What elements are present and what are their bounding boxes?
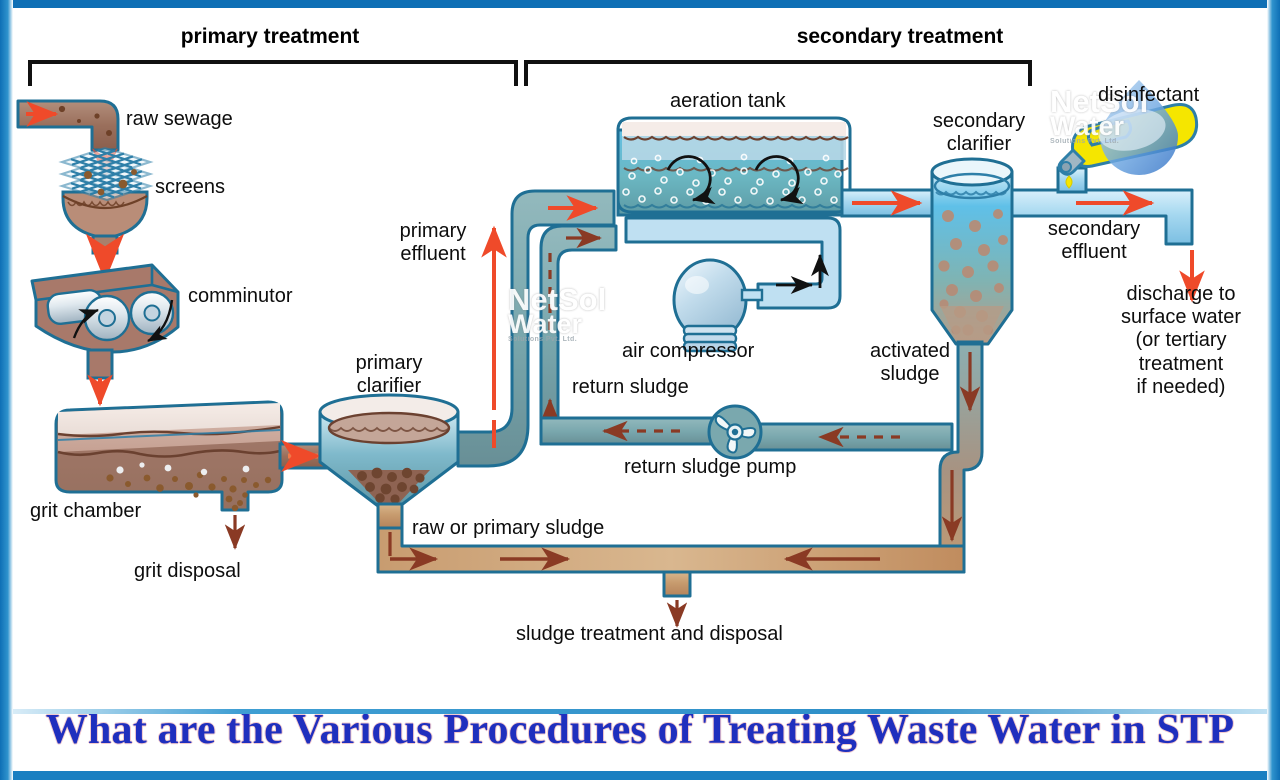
bracket-end-left [524,60,528,86]
label-grit-disposal: grit disposal [134,560,241,583]
section-title-secondary: secondary treatment [520,25,1280,49]
air-compressor [626,218,840,351]
bracket-bar [524,60,1032,64]
label-comminutor: comminutor [188,285,292,308]
bracket-bar [28,60,518,64]
label-return-sludge: return sludge [572,376,689,399]
bracket-end-right [514,60,518,86]
label-primary-effluent: primary effluent [372,220,494,266]
aeration-tank [618,118,850,215]
label-raw-sewage: raw sewage [126,108,233,131]
label-aeration-tank: aeration tank [670,90,786,113]
label-screens: screens [155,176,225,199]
diagram-canvas: NetSol Water Solutions Pvt. Ltd. NetSol … [0,0,1280,780]
frame-bottom [0,771,1280,780]
label-primary-clarifier: primary clarifier [318,352,460,398]
section-title-primary: primary treatment [0,25,540,49]
screens-unit [62,148,150,278]
label-return-sludge-pump: return sludge pump [624,456,796,479]
frame-right [1267,0,1280,780]
return-sludge-pipe [541,226,616,444]
label-secondary-clarifier: secondary clarifier [906,110,1052,156]
aeration-to-clarifier-pipe [842,190,938,216]
comminutor-unit [32,265,178,404]
label-discharge: discharge to surface water (or tertiary … [1092,283,1270,399]
primary-clarifier [320,395,458,528]
label-raw-or-primary-sludge: raw or primary sludge [412,517,604,540]
label-secondary-effluent: secondary effluent [1024,218,1164,264]
label-disinfectant: disinfectant [1098,84,1199,107]
secondary-clarifier [932,159,1012,366]
label-air-compressor: air compressor [622,340,754,363]
return-sludge-run [541,406,952,458]
label-sludge-treatment-disposal: sludge treatment and disposal [516,623,783,646]
frame-separator [13,709,1267,714]
grit-chamber [56,402,282,548]
label-activated-sludge: activated sludge [848,340,972,386]
frame-left [0,0,13,780]
frame-top [0,0,1280,8]
bracket-end-right [1028,60,1032,86]
raw-primary-sludge-pipe [378,528,964,626]
label-grit-chamber: grit chamber [30,500,141,523]
bracket-end-left [28,60,32,86]
